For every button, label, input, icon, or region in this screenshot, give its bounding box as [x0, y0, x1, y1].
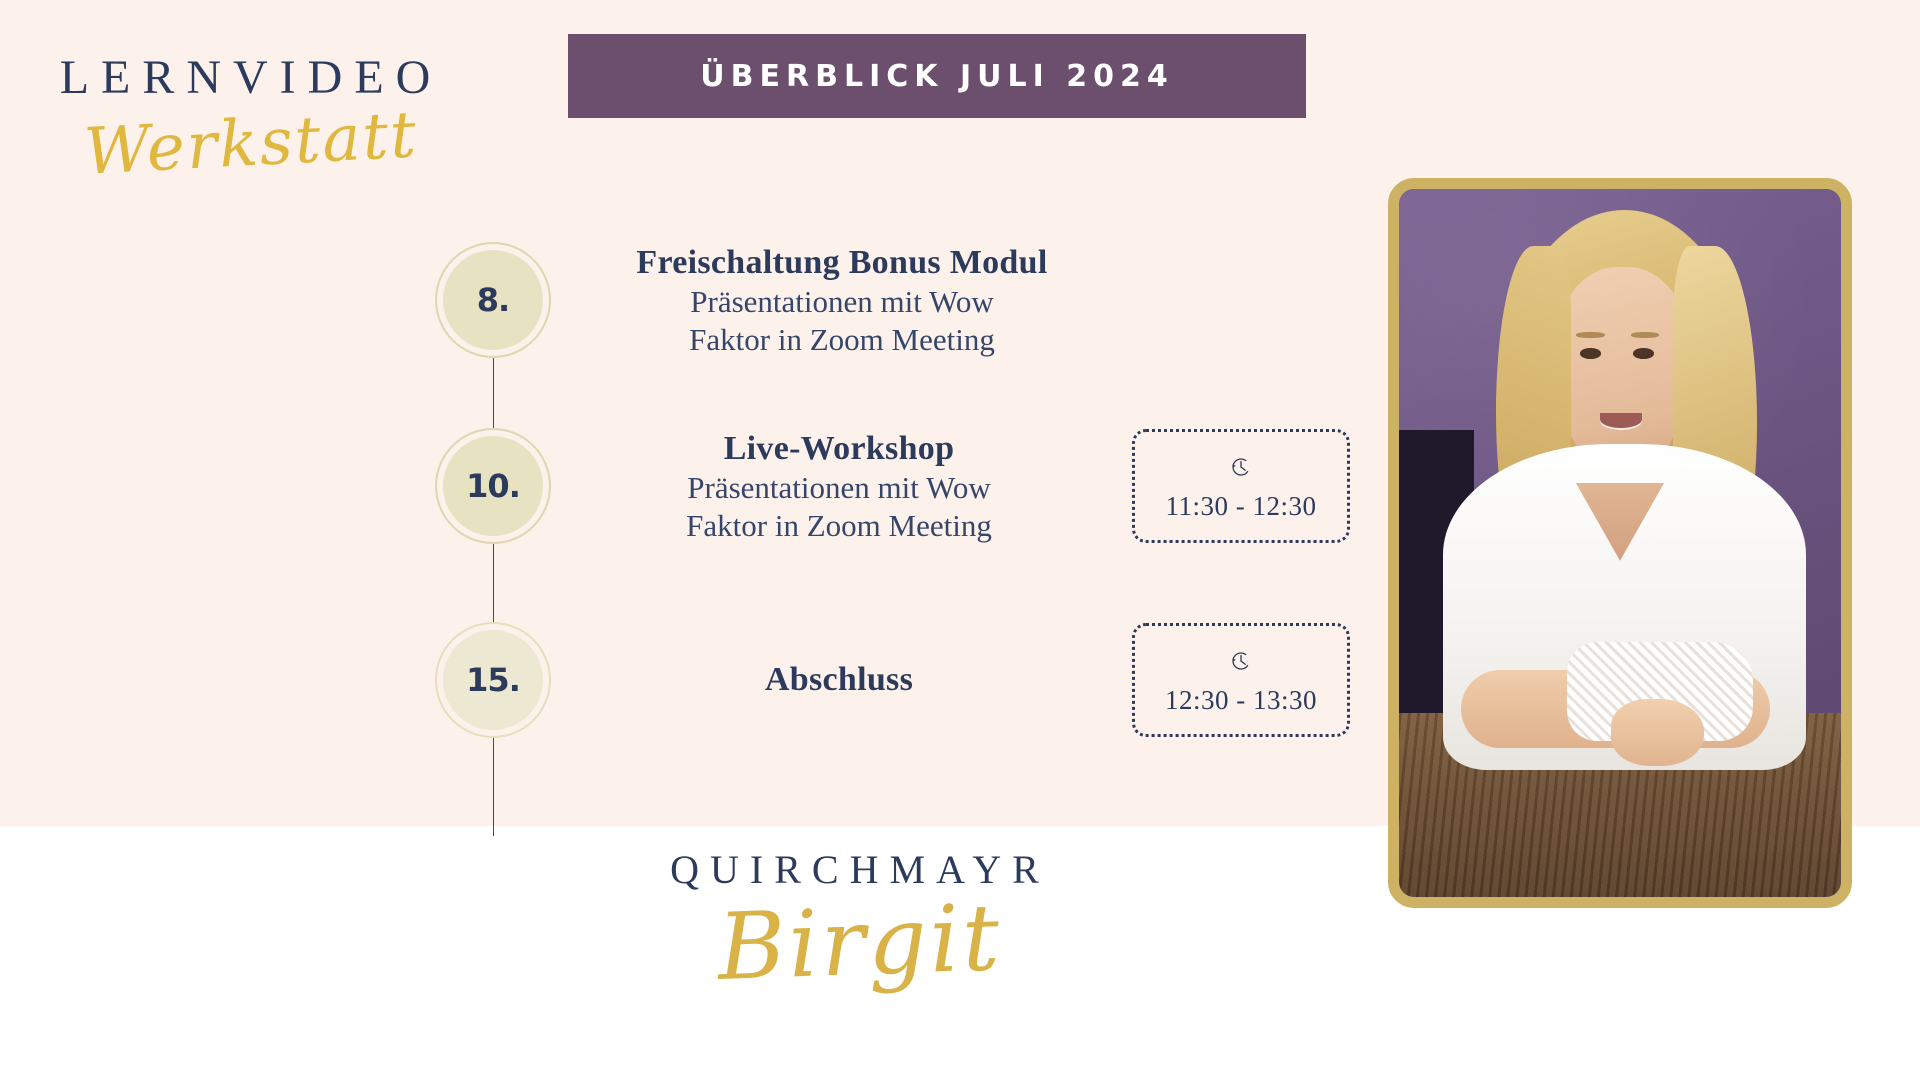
day-number-1: 8. [477, 281, 509, 319]
time-badge-3: 12:30 - 13:30 [1132, 623, 1350, 737]
time-range-3: 12:30 - 13:30 [1165, 685, 1317, 716]
event-subtitle-1-line1: Präsentationen mit Wow [586, 284, 1098, 320]
brand-logo-script: Werkstatt [35, 101, 468, 187]
poster-canvas: LERNVIDEO Werkstatt ÜBERBLICK JULI 2024 … [0, 0, 1920, 1080]
schedule-text-1: Freischaltung Bonus Modul Präsentationen… [556, 243, 1118, 357]
photo-subject-eye-left [1580, 348, 1600, 359]
event-title-1: Freischaltung Bonus Modul [586, 243, 1098, 282]
photo-subject-brow-left [1576, 332, 1605, 338]
signature-surname: QUIRCHMAYR [600, 826, 1120, 893]
event-subtitle-1-line2: Faktor in Zoom Meeting [586, 322, 1098, 358]
photo-subject-eye-right [1633, 348, 1653, 359]
schedule-text-2: Live-Workshop Präsentationen mit Wow Fak… [556, 429, 1112, 543]
schedule-text-3: Abschluss [556, 660, 1112, 699]
signature-firstname: Birgit [599, 888, 1122, 998]
signature-block: QUIRCHMAYR Birgit [600, 826, 1120, 1066]
portrait-photo-frame [1388, 178, 1852, 908]
photo-subject-mouth [1600, 413, 1642, 430]
schedule-item-1: 8. Freischaltung Bonus Modul Präsentatio… [430, 230, 1350, 370]
portrait-photo [1399, 189, 1841, 897]
month-overview-title: ÜBERBLICK JULI 2024 [700, 59, 1173, 94]
event-subtitle-2-line1: Präsentationen mit Wow [586, 470, 1092, 506]
brand-logo-primary: LERNVIDEO [36, 36, 466, 102]
month-overview-banner: ÜBERBLICK JULI 2024 [568, 34, 1306, 118]
day-number-2: 10. [466, 467, 520, 505]
event-title-3: Abschluss [586, 660, 1092, 699]
timeline-connector-line [493, 326, 494, 836]
time-badge-2: 11:30 - 12:30 [1132, 429, 1350, 543]
event-subtitle-2-line2: Faktor in Zoom Meeting [586, 508, 1092, 544]
schedule-item-3: 15. Abschluss 12:30 - 13:30 [430, 610, 1350, 750]
time-badge-1-placeholder [1138, 246, 1350, 354]
clock-icon [1224, 644, 1258, 683]
brand-logo: LERNVIDEO Werkstatt [36, 36, 466, 206]
photo-subject-hand [1611, 699, 1704, 766]
schedule-timeline: 8. Freischaltung Bonus Modul Präsentatio… [430, 230, 1350, 790]
time-range-2: 11:30 - 12:30 [1166, 491, 1317, 522]
clock-icon [1224, 450, 1258, 489]
day-badge-3: 15. [430, 617, 556, 743]
schedule-item-2: 10. Live-Workshop Präsentationen mit Wow… [430, 416, 1350, 556]
day-badge-2: 10. [430, 423, 556, 549]
day-number-3: 15. [466, 661, 520, 699]
day-badge-1: 8. [430, 237, 556, 363]
event-title-2: Live-Workshop [586, 429, 1092, 468]
